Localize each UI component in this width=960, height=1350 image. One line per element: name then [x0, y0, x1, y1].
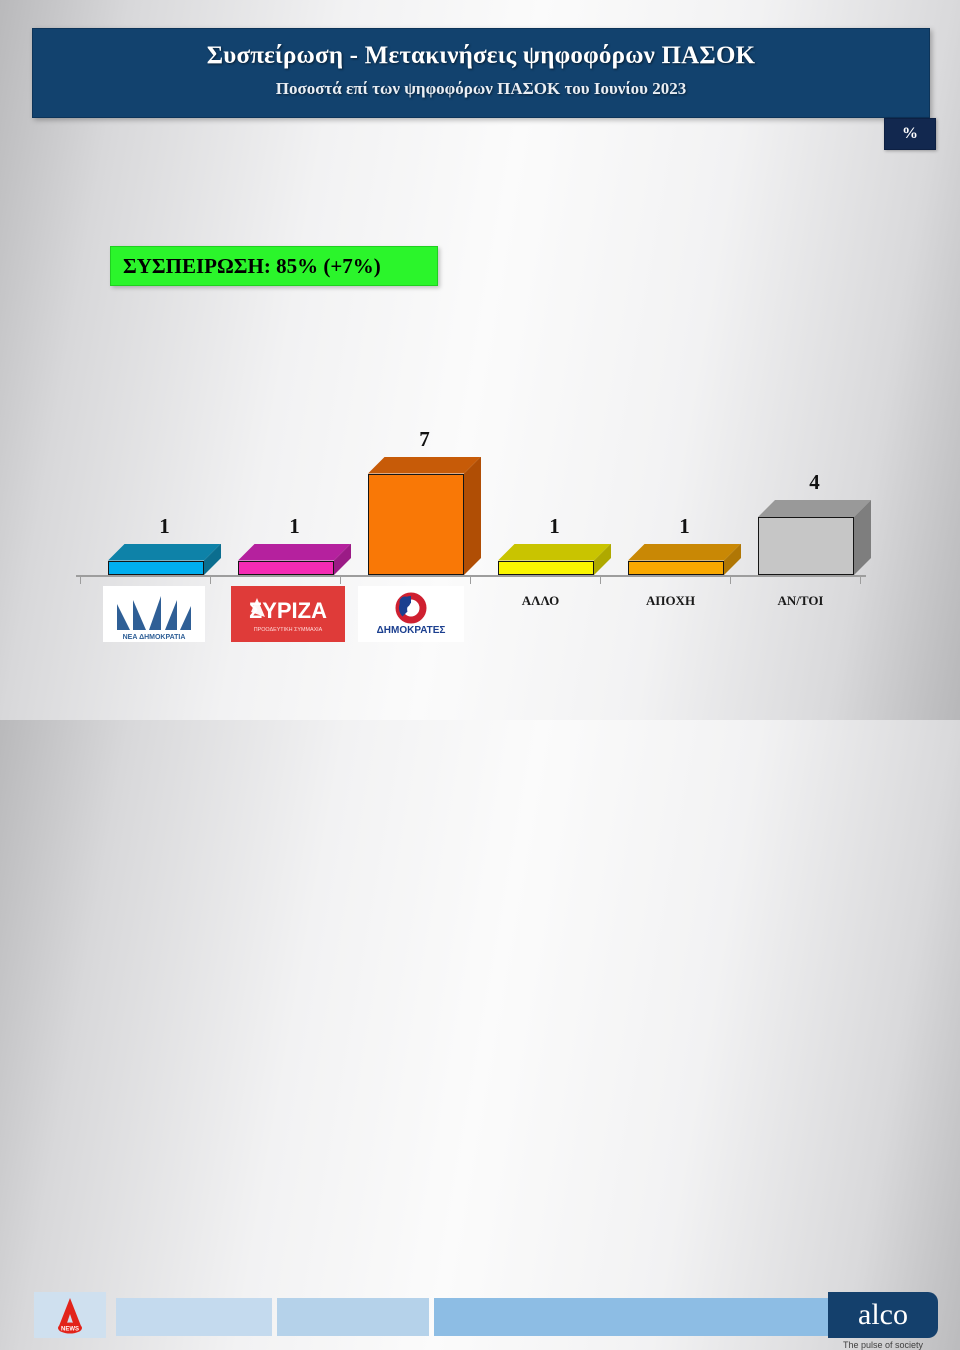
- bar-front-face: [758, 517, 854, 575]
- bar-αλλο: [498, 544, 611, 576]
- bar-top-face: [368, 457, 481, 474]
- footer-bar: NEWS alco The pulse of society: [0, 642, 960, 720]
- dimokrates-logo-word: ΔΗΜΟΚΡΑΤΕΣ: [377, 625, 446, 636]
- alco-logo: alco: [828, 1292, 938, 1338]
- x-axis-label-αν-τοι: ΑΝ/ΤΟΙ: [744, 593, 857, 609]
- x-axis-line: [76, 575, 866, 577]
- retention-callout: ΣΥΣΠΕΙΡΩΣΗ: 85% (+7%): [110, 246, 438, 286]
- nd-logo-caption: ΝΕΑ ΔΗΜΟΚΡΑΤΙΑ: [123, 634, 186, 641]
- retention-callout-text: ΣΥΣΠΕΙΡΩΣΗ: 85% (+7%): [111, 254, 381, 279]
- x-axis-tick: [210, 575, 211, 584]
- syriza-logo-caption: ΠΡΟΟΔΕΥΤΙΚΗ ΣΥΜΜΑΧΙΑ: [254, 627, 323, 633]
- bar-top-face: [758, 500, 871, 517]
- x-axis-tick: [470, 575, 471, 584]
- bar-value-label: 1: [628, 514, 741, 539]
- bar-value-label: 1: [238, 514, 351, 539]
- bar-value-label: 4: [758, 470, 871, 495]
- footer-segment-1: [116, 1298, 272, 1336]
- bar-front-face: [368, 474, 464, 576]
- bar-front-face: [498, 561, 594, 576]
- dimokrates-logo-icon: ΔΗΜΟΚΡΑΤΕΣ: [358, 586, 464, 642]
- bar-value-label: 1: [108, 514, 221, 539]
- page-title: Συσπείρωση - Μετακινήσεις ψηφοφόρων ΠΑΣΟ…: [33, 42, 929, 70]
- bar-δημοκρατες: [368, 457, 481, 576]
- x-axis-tick: [730, 575, 731, 584]
- x-axis-tick: [600, 575, 601, 584]
- logo-syriza: ΣΥΡΙΖΑ ΠΡΟΟΔΕΥΤΙΚΗ ΣΥΜΜΑΧΙΑ: [231, 586, 345, 642]
- x-axis-label-αποχη: ΑΠΟΧΗ: [614, 593, 727, 609]
- bar-front-face: [628, 561, 724, 576]
- syriza-logo-icon: ΣΥΡΙΖΑ ΠΡΟΟΔΕΥΤΙΚΗ ΣΥΜΜΑΧΙΑ: [231, 586, 345, 642]
- header-band: Συσπείρωση - Μετακινήσεις ψηφοφόρων ΠΑΣΟ…: [32, 28, 930, 118]
- unit-badge: %: [884, 118, 936, 150]
- footer-segment-2: [277, 1298, 429, 1336]
- bar-value-label: 1: [498, 514, 611, 539]
- x-axis-tick: [340, 575, 341, 584]
- x-axis-label-αλλο: ΑΛΛΟ: [484, 593, 597, 609]
- x-axis-tick: [860, 575, 861, 584]
- bar-αποχη: [628, 544, 741, 576]
- bar-συριζα: [238, 544, 351, 576]
- anews-logo-word: NEWS: [61, 1327, 79, 1333]
- slide-root: Συσπείρωση - Μετακινήσεις ψηφοφόρων ΠΑΣΟ…: [0, 0, 960, 720]
- bar-front-face: [238, 561, 334, 576]
- anews-logo-icon: NEWS: [34, 1292, 106, 1338]
- footer-segment-3: [434, 1298, 830, 1336]
- nd-logo-icon: ΝΕΑ ΔΗΜΟΚΡΑΤΙΑ: [103, 586, 205, 642]
- logo-dimokrates: ΔΗΜΟΚΡΑΤΕΣ: [358, 586, 464, 642]
- bar-top-face: [628, 544, 741, 561]
- bar-value-label: 7: [368, 427, 481, 452]
- bar-front-face: [108, 561, 204, 576]
- bar-side-face: [464, 457, 481, 576]
- bar-νδ: [108, 544, 221, 576]
- page-subtitle: Ποσοστά επί των ψηφοφόρων ΠΑΣΟΚ του Ιουν…: [33, 79, 929, 99]
- bar-αν-τοι: [758, 500, 871, 575]
- bar-chart: 117114 ΑΛΛΟΑΠΟΧΗΑΝ/ΤΟΙ: [70, 330, 870, 580]
- bar-top-face: [238, 544, 351, 561]
- logo-nea-dimokratia: ΝΕΑ ΔΗΜΟΚΡΑΤΙΑ: [103, 586, 205, 642]
- bar-top-face: [498, 544, 611, 561]
- bar-top-face: [108, 544, 221, 561]
- alco-logo-word: alco: [858, 1300, 908, 1330]
- anews-logo: NEWS: [34, 1292, 106, 1338]
- x-axis-tick: [80, 575, 81, 584]
- alco-tagline: The pulse of society: [828, 1340, 938, 1350]
